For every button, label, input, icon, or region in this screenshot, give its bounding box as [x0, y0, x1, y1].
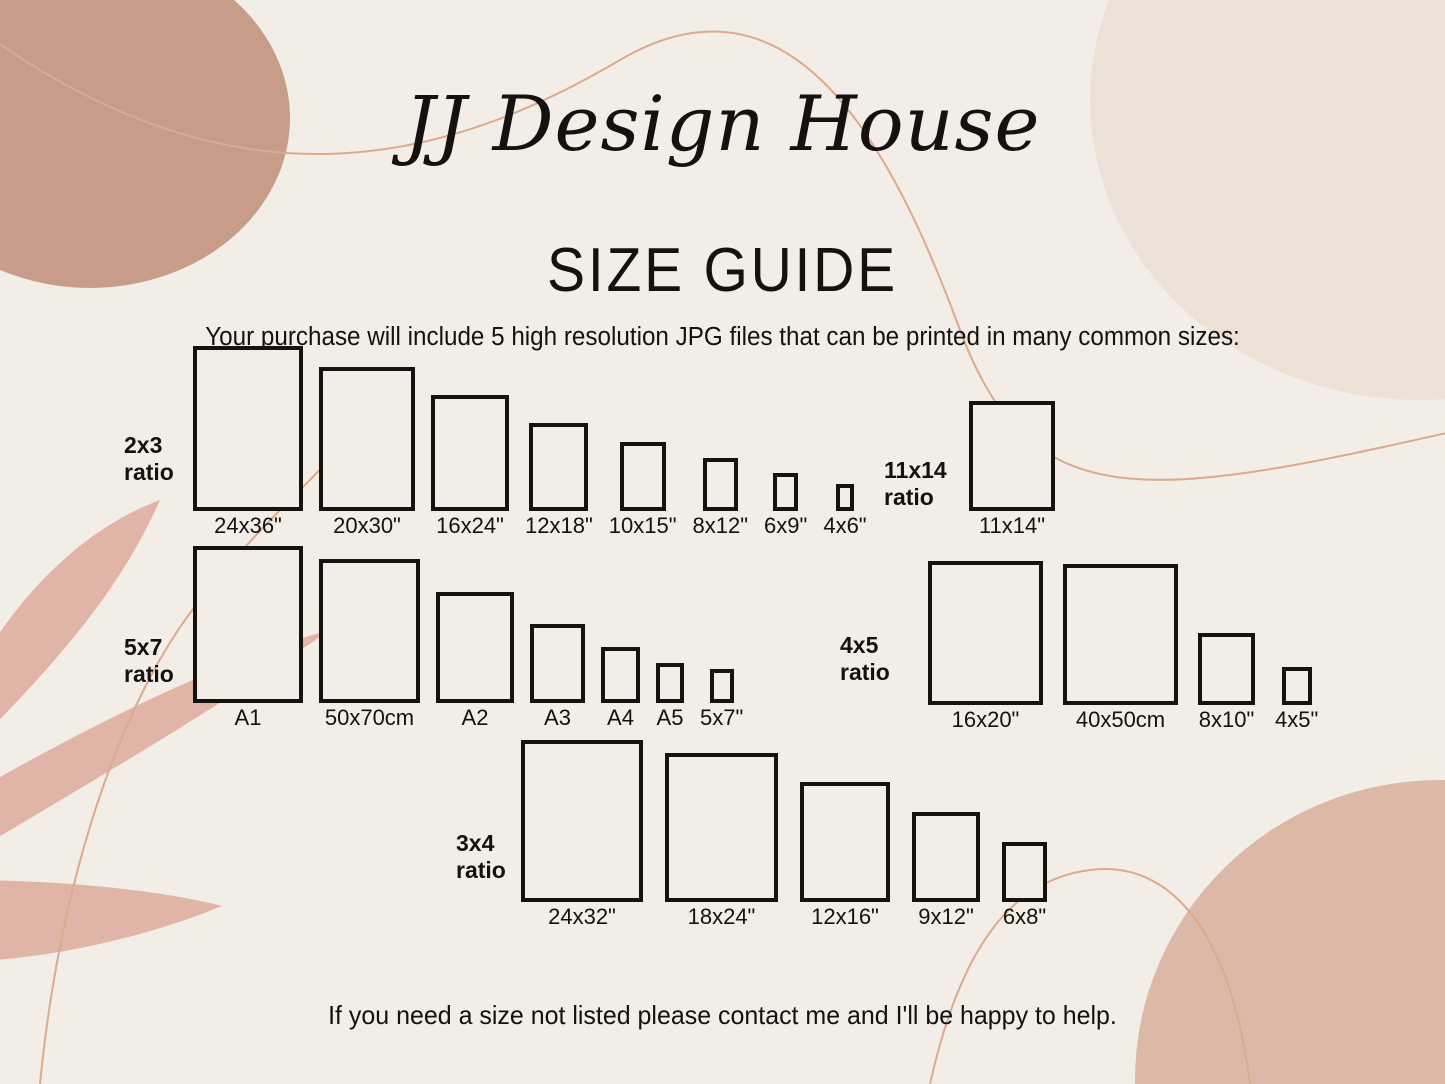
- ratio-label-line1: 2x3: [124, 432, 174, 459]
- ratio-label-line2: ratio: [840, 659, 890, 686]
- ratio-label-line2: ratio: [884, 484, 947, 511]
- frame-rectangle: [912, 812, 980, 902]
- ratio-label-ratio-11x14: 11x14ratio: [884, 457, 947, 511]
- ratio-label-line1: 4x5: [840, 632, 890, 659]
- frames-row-ratio-3x4: 24x32"18x24"12x16"9x12"6x8": [521, 728, 1047, 928]
- ratio-label-line1: 3x4: [456, 830, 506, 857]
- ratio-label-line1: 11x14: [884, 457, 947, 484]
- frames-row-ratio-2x3: 24x36"20x30"16x24"12x18"10x15"8x12"6x9"4…: [193, 337, 867, 537]
- frame-rectangle: [969, 401, 1055, 511]
- frame-size-caption: 9x12": [918, 905, 974, 928]
- frame-item[interactable]: A4: [601, 647, 640, 729]
- frame-item[interactable]: A2: [436, 592, 514, 729]
- frame-rectangle: [530, 624, 585, 703]
- frame-item[interactable]: 11x14": [969, 401, 1055, 537]
- frame-rectangle: [436, 592, 514, 703]
- ratio-label-line2: ratio: [124, 459, 174, 486]
- frames-row-ratio-4x5: 16x20"40x50cm8x10"4x5": [928, 531, 1318, 731]
- frame-item[interactable]: 16x20": [928, 561, 1043, 731]
- frame-size-caption: 12x16": [811, 905, 879, 928]
- frame-item[interactable]: 8x12": [693, 458, 749, 537]
- frame-size-caption: 40x50cm: [1076, 708, 1165, 731]
- frame-size-caption: A1: [235, 706, 262, 729]
- frame-item[interactable]: 20x30": [319, 367, 415, 537]
- frame-rectangle: [703, 458, 738, 511]
- frame-rectangle: [928, 561, 1043, 705]
- frame-rectangle: [836, 484, 854, 511]
- frame-rectangle: [1198, 633, 1255, 705]
- frame-size-caption: 4x6": [823, 514, 866, 537]
- frame-item[interactable]: A1: [193, 546, 303, 729]
- frame-size-caption: 24x32": [548, 905, 616, 928]
- frame-rectangle: [773, 473, 798, 511]
- frame-item[interactable]: 10x15": [609, 442, 677, 537]
- frame-size-caption: A2: [462, 706, 489, 729]
- frame-size-caption: 8x10": [1199, 708, 1255, 731]
- frame-rectangle: [620, 442, 666, 511]
- frame-rectangle: [319, 559, 420, 703]
- frame-item[interactable]: 18x24": [665, 753, 778, 928]
- frame-item[interactable]: 4x6": [823, 484, 866, 537]
- frame-item[interactable]: A5: [656, 663, 684, 729]
- brand-title: JJ Design House: [0, 86, 1445, 162]
- ratio-label-line1: 5x7: [124, 634, 174, 661]
- frame-item[interactable]: 24x36": [193, 346, 303, 537]
- frame-size-caption: A4: [607, 706, 634, 729]
- frame-size-caption: A3: [544, 706, 571, 729]
- frame-item[interactable]: 6x8": [1002, 842, 1047, 928]
- frame-rectangle: [193, 346, 303, 511]
- frame-item[interactable]: 6x9": [764, 473, 807, 537]
- frame-item[interactable]: 12x18": [525, 423, 593, 537]
- frame-rectangle: [193, 546, 303, 703]
- blush-petal-upper: [0, 500, 160, 760]
- frame-item[interactable]: 12x16": [800, 782, 890, 928]
- frame-size-caption: 4x5": [1275, 708, 1318, 731]
- frame-rectangle: [1002, 842, 1047, 902]
- ratio-label-line2: ratio: [456, 857, 506, 884]
- frame-size-caption: 5x7": [700, 706, 743, 729]
- frame-rectangle: [665, 753, 778, 902]
- frame-item[interactable]: 40x50cm: [1063, 564, 1178, 731]
- frame-item[interactable]: 24x32": [521, 740, 643, 928]
- ratio-label-line2: ratio: [124, 661, 174, 688]
- ratio-label-ratio-5x7: 5x7ratio: [124, 634, 174, 688]
- frame-size-caption: 50x70cm: [325, 706, 414, 729]
- frame-item[interactable]: 9x12": [912, 812, 980, 928]
- frame-item[interactable]: 16x24": [431, 395, 509, 537]
- ratio-label-ratio-4x5: 4x5ratio: [840, 632, 890, 686]
- frame-rectangle: [710, 669, 734, 703]
- frame-rectangle: [601, 647, 640, 703]
- blush-petal-lower: [0, 880, 222, 962]
- bottom-right-terracotta-circle: [1135, 780, 1445, 1084]
- frames-row-ratio-5x7: A150x70cmA2A3A4A55x7": [193, 529, 743, 729]
- frame-item[interactable]: 50x70cm: [319, 559, 420, 729]
- frame-rectangle: [529, 423, 588, 511]
- frame-item[interactable]: 5x7": [700, 669, 743, 729]
- frame-size-caption: A5: [657, 706, 684, 729]
- frame-rectangle: [656, 663, 684, 703]
- frame-rectangle: [800, 782, 890, 902]
- frame-size-caption: 18x24": [688, 905, 756, 928]
- size-guide-poster: JJ Design House SIZE GUIDE Your purchase…: [0, 0, 1445, 1084]
- ratio-label-ratio-3x4: 3x4ratio: [456, 830, 506, 884]
- frame-rectangle: [319, 367, 415, 511]
- frame-size-caption: 6x8": [1003, 905, 1046, 928]
- frame-item[interactable]: A3: [530, 624, 585, 729]
- frame-rectangle: [1063, 564, 1178, 705]
- footer-note: If you need a size not listed please con…: [29, 1000, 1416, 1031]
- frame-size-caption: 6x9": [764, 514, 807, 537]
- frame-rectangle: [431, 395, 509, 511]
- page-title: SIZE GUIDE: [58, 240, 1387, 302]
- frame-rectangle: [521, 740, 643, 902]
- frames-row-ratio-11x14: 11x14": [969, 337, 1055, 537]
- frame-item[interactable]: 4x5": [1275, 667, 1318, 731]
- frame-item[interactable]: 8x10": [1198, 633, 1255, 731]
- ratio-label-ratio-2x3: 2x3ratio: [124, 432, 174, 486]
- frame-rectangle: [1282, 667, 1312, 705]
